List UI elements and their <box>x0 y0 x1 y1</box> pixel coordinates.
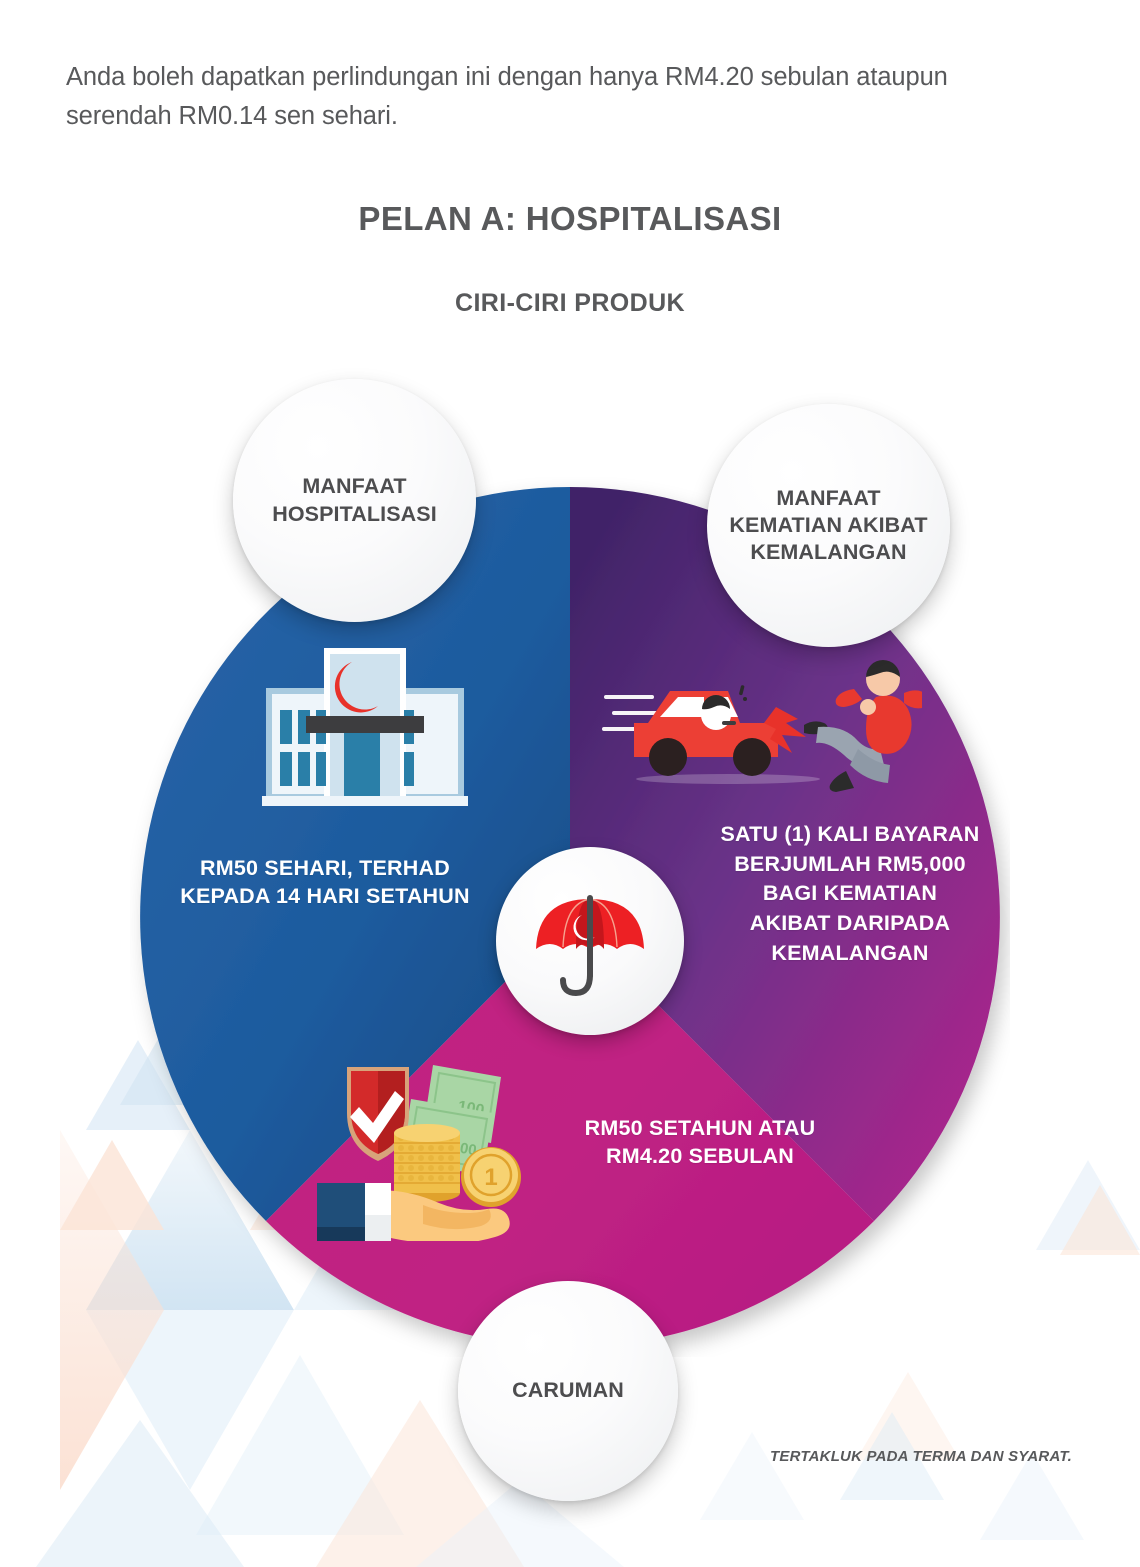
bubble-manfaat-kematian-akibat-kemalangan[interactable]: MANFAAT KEMATIAN AKIBAT KEMALANGAN <box>707 404 950 647</box>
segment-value-line: AKIBAT DARIPADA <box>690 909 1010 939</box>
segment-value-line: RM50 SEHARI, TERHAD <box>150 855 500 883</box>
car-crash-icon <box>600 645 922 800</box>
bubble-label-line: MANFAAT <box>272 473 437 500</box>
bubble-label-line: MANFAAT <box>729 485 927 512</box>
footnote-terms: TERTAKLUK PADA TERMA DAN SYARAT. <box>700 1448 1072 1465</box>
bubble-manfaat-hospitalisasi[interactable]: MANFAAT HOSPITALISASI <box>233 379 476 622</box>
segment-value-line: SATU (1) KALI BAYARAN <box>690 820 1010 850</box>
bubble-caruman[interactable]: CARUMAN <box>458 1281 678 1501</box>
money-hand-icon: 100 100 <box>305 1055 555 1241</box>
segment-value-contribution: RM50 SETAHUN ATAU RM4.20 SEBULAN <box>550 1115 850 1171</box>
segment-value-line: KEPADA 14 HARI SETAHUN <box>150 883 500 911</box>
segment-value-line: RM4.20 SEBULAN <box>550 1143 850 1171</box>
umbrella-icon <box>526 877 654 1005</box>
section-title: CIRI-CIRI PRODUK <box>0 289 1140 318</box>
bubble-label-line: KEMATIAN AKIBAT <box>729 512 927 539</box>
bubble-label: MANFAAT KEMATIAN AKIBAT KEMALANGAN <box>721 485 935 567</box>
bubble-label: CARUMAN <box>504 1377 632 1404</box>
page-title: PELAN A: HOSPITALISASI <box>0 200 1140 238</box>
hospital-icon <box>258 640 472 812</box>
segment-value-line: RM50 SETAHUN ATAU <box>550 1115 850 1143</box>
segment-value-line: BAGI KEMATIAN <box>690 879 1010 909</box>
segment-value-accidental-death: SATU (1) KALI BAYARAN BERJUMLAH RM5,000 … <box>690 820 1010 968</box>
segment-value-hospitalisation: RM50 SEHARI, TERHAD KEPADA 14 HARI SETAH… <box>150 855 500 911</box>
bubble-label-line: HOSPITALISASI <box>272 501 437 528</box>
intro-paragraph: Anda boleh dapatkan perlindungan ini den… <box>66 58 1026 136</box>
segment-value-line: BERJUMLAH RM5,000 <box>690 850 1010 880</box>
segment-value-line: KEMALANGAN <box>690 939 1010 969</box>
svg-text:1: 1 <box>484 1164 497 1191</box>
bubble-label: MANFAAT HOSPITALISASI <box>264 473 445 528</box>
infographic-page: Anda boleh dapatkan perlindungan ini den… <box>0 0 1140 1567</box>
bubble-label-line: KEMALANGAN <box>729 539 927 566</box>
center-umbrella-bubble[interactable] <box>496 847 684 1035</box>
